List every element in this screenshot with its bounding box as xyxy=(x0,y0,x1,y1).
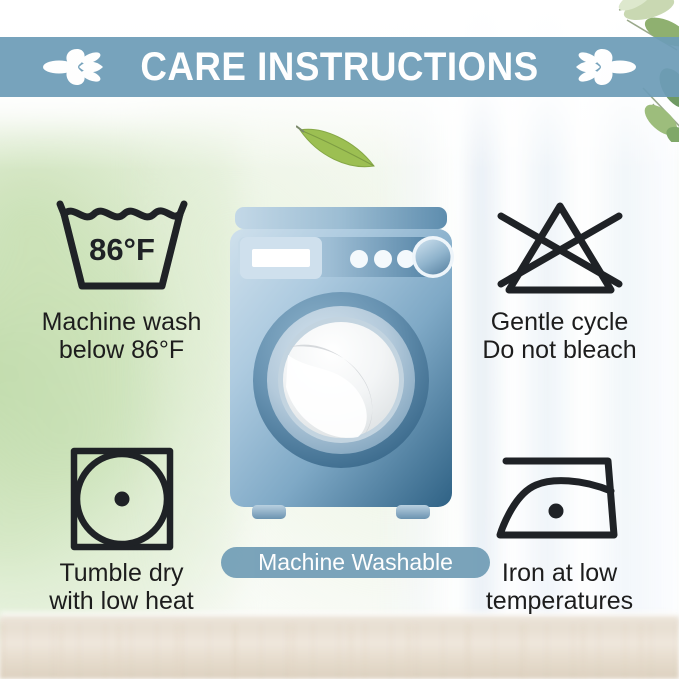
label-line-1: Iron at low xyxy=(502,559,617,587)
washing-machine-illustration xyxy=(228,205,454,535)
care-symbol-do-not-bleach: Gentle cycle Do not bleach xyxy=(452,192,667,364)
care-instructions-poster: CARE INSTRUCTIONS xyxy=(0,0,679,679)
control-knob xyxy=(416,240,451,275)
fleur-de-lis-ornament-right-icon xyxy=(574,45,636,89)
floating-leaf-icon xyxy=(296,120,378,172)
wash-temperature-text: 86°F xyxy=(89,232,155,267)
machine-foot xyxy=(252,505,286,519)
label-line-2: below 86°F xyxy=(14,336,229,364)
iron-icon xyxy=(452,443,667,555)
care-symbol-label: Gentle cycle Do not bleach xyxy=(452,308,667,364)
care-symbol-machine-wash: 86°F Machine wash below 86°F xyxy=(14,192,229,364)
machine-washable-badge: Machine Washable xyxy=(221,547,490,578)
wash-tub-icon: 86°F xyxy=(14,192,229,304)
tumble-dry-square-icon xyxy=(14,443,229,555)
machine-foot xyxy=(396,505,430,519)
care-symbol-tumble-dry: Tumble dry with low heat xyxy=(14,443,229,615)
triangle-crossed-out-icon xyxy=(452,192,667,304)
label-line-1: Gentle cycle xyxy=(491,308,629,336)
care-symbol-iron: Iron at low temperatures xyxy=(452,443,667,615)
label-line-2: Do not bleach xyxy=(452,336,667,364)
label-line-2: with low heat xyxy=(14,587,229,615)
drawer-slot xyxy=(252,249,310,267)
machine-top-lid xyxy=(235,207,447,229)
label-line-1: Machine wash xyxy=(42,308,202,336)
header-banner: CARE INSTRUCTIONS xyxy=(0,37,679,97)
care-symbol-label: Machine wash below 86°F xyxy=(14,308,229,364)
badge-text: Machine Washable xyxy=(258,551,453,574)
label-line-1: Tumble dry xyxy=(59,559,183,587)
fleur-de-lis-ornament-left-icon xyxy=(43,45,105,89)
care-symbol-label: Tumble dry with low heat xyxy=(14,559,229,615)
indicator-dot xyxy=(374,250,392,268)
label-line-2: temperatures xyxy=(452,587,667,615)
wood-grain-texture xyxy=(0,623,679,679)
page-title: CARE INSTRUCTIONS xyxy=(140,47,538,87)
indicator-dot xyxy=(350,250,368,268)
